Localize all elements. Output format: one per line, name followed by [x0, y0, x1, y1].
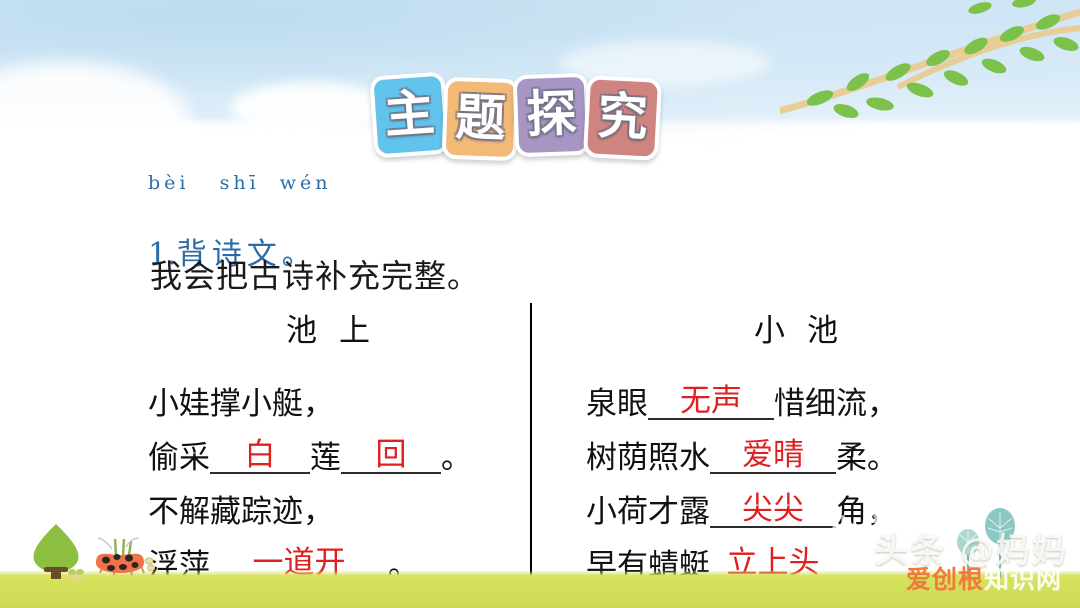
poem-text: 莲: [310, 443, 341, 474]
slide-canvas: 主 题 探 究 bèi shī wén 1.背诗文。 我会把古诗补充完整。 池上…: [0, 0, 1080, 608]
poem-line: 泉眼无声惜细流，: [586, 366, 1006, 420]
poem-text: 泉眼: [586, 389, 648, 420]
title-tile: 究: [583, 75, 662, 161]
poem-line: 小荷才露尖尖角，: [586, 474, 1006, 528]
poem-left-lines: 小娃撑小艇，偷采白莲回。不解藏踪迹，浮萍一道开。: [148, 366, 508, 582]
poem-right-lines: 泉眼无声惜细流，树荫照水爱晴柔。小荷才露尖尖角，早有蜻蜓立上头: [586, 366, 1006, 582]
title-tile-char: 主: [383, 87, 436, 140]
title-tile: 探: [513, 73, 591, 158]
title-tile-char: 题: [455, 92, 507, 144]
instruction-text: 我会把古诗补充完整。: [150, 251, 480, 297]
answer-blank[interactable]: 白: [210, 439, 310, 474]
title-tile: 主: [369, 71, 450, 158]
section-title: 主 题 探 究: [372, 74, 656, 160]
poem-right: 小池 泉眼无声惜细流，树荫照水爱晴柔。小荷才露尖尖角，早有蜻蜓立上头: [586, 305, 1006, 582]
poem-text: 柔。: [836, 443, 898, 474]
ladybug-icon: [82, 533, 158, 581]
poem-text: 不解藏踪迹，: [148, 497, 334, 528]
poem-text: 惜细流，: [774, 389, 898, 420]
poem-left: 池上 小娃撑小艇，偷采白莲回。不解藏踪迹，浮萍一道开。: [148, 305, 508, 582]
question-pinyin: bèi shī wén: [148, 172, 332, 194]
title-tile-char: 究: [596, 91, 649, 144]
poem-text: 。: [441, 443, 472, 474]
poem-text: 偷采: [148, 443, 210, 474]
title-tile-char: 探: [526, 88, 578, 140]
poem-text: 角，: [836, 497, 898, 528]
poem-line: 不解藏踪迹，: [148, 474, 508, 528]
poem-right-title: 小池: [586, 305, 1006, 350]
poem-text: 小荷才露: [586, 497, 710, 528]
answer-blank[interactable]: 回: [341, 439, 441, 474]
poem-line: 树荫照水爱晴柔。: [586, 420, 1006, 474]
grass-strip: [0, 575, 1080, 608]
answer-blank[interactable]: 尖尖: [710, 493, 836, 528]
dandelion-puffs-icon: [948, 508, 1028, 580]
poem-line: 偷采白莲回。: [148, 420, 508, 474]
poem-text: 树荫照水: [586, 443, 710, 474]
poem-line: 小娃撑小艇，: [148, 366, 508, 420]
answer-blank[interactable]: 无声: [648, 385, 774, 420]
poem-left-title: 池上: [148, 305, 508, 350]
column-divider: [530, 303, 532, 585]
title-tile: 题: [442, 77, 520, 162]
answer-blank[interactable]: 爱晴: [710, 439, 836, 474]
poem-text: 小娃撑小艇，: [148, 389, 334, 420]
branch-leaves-icon: [780, 0, 1080, 144]
